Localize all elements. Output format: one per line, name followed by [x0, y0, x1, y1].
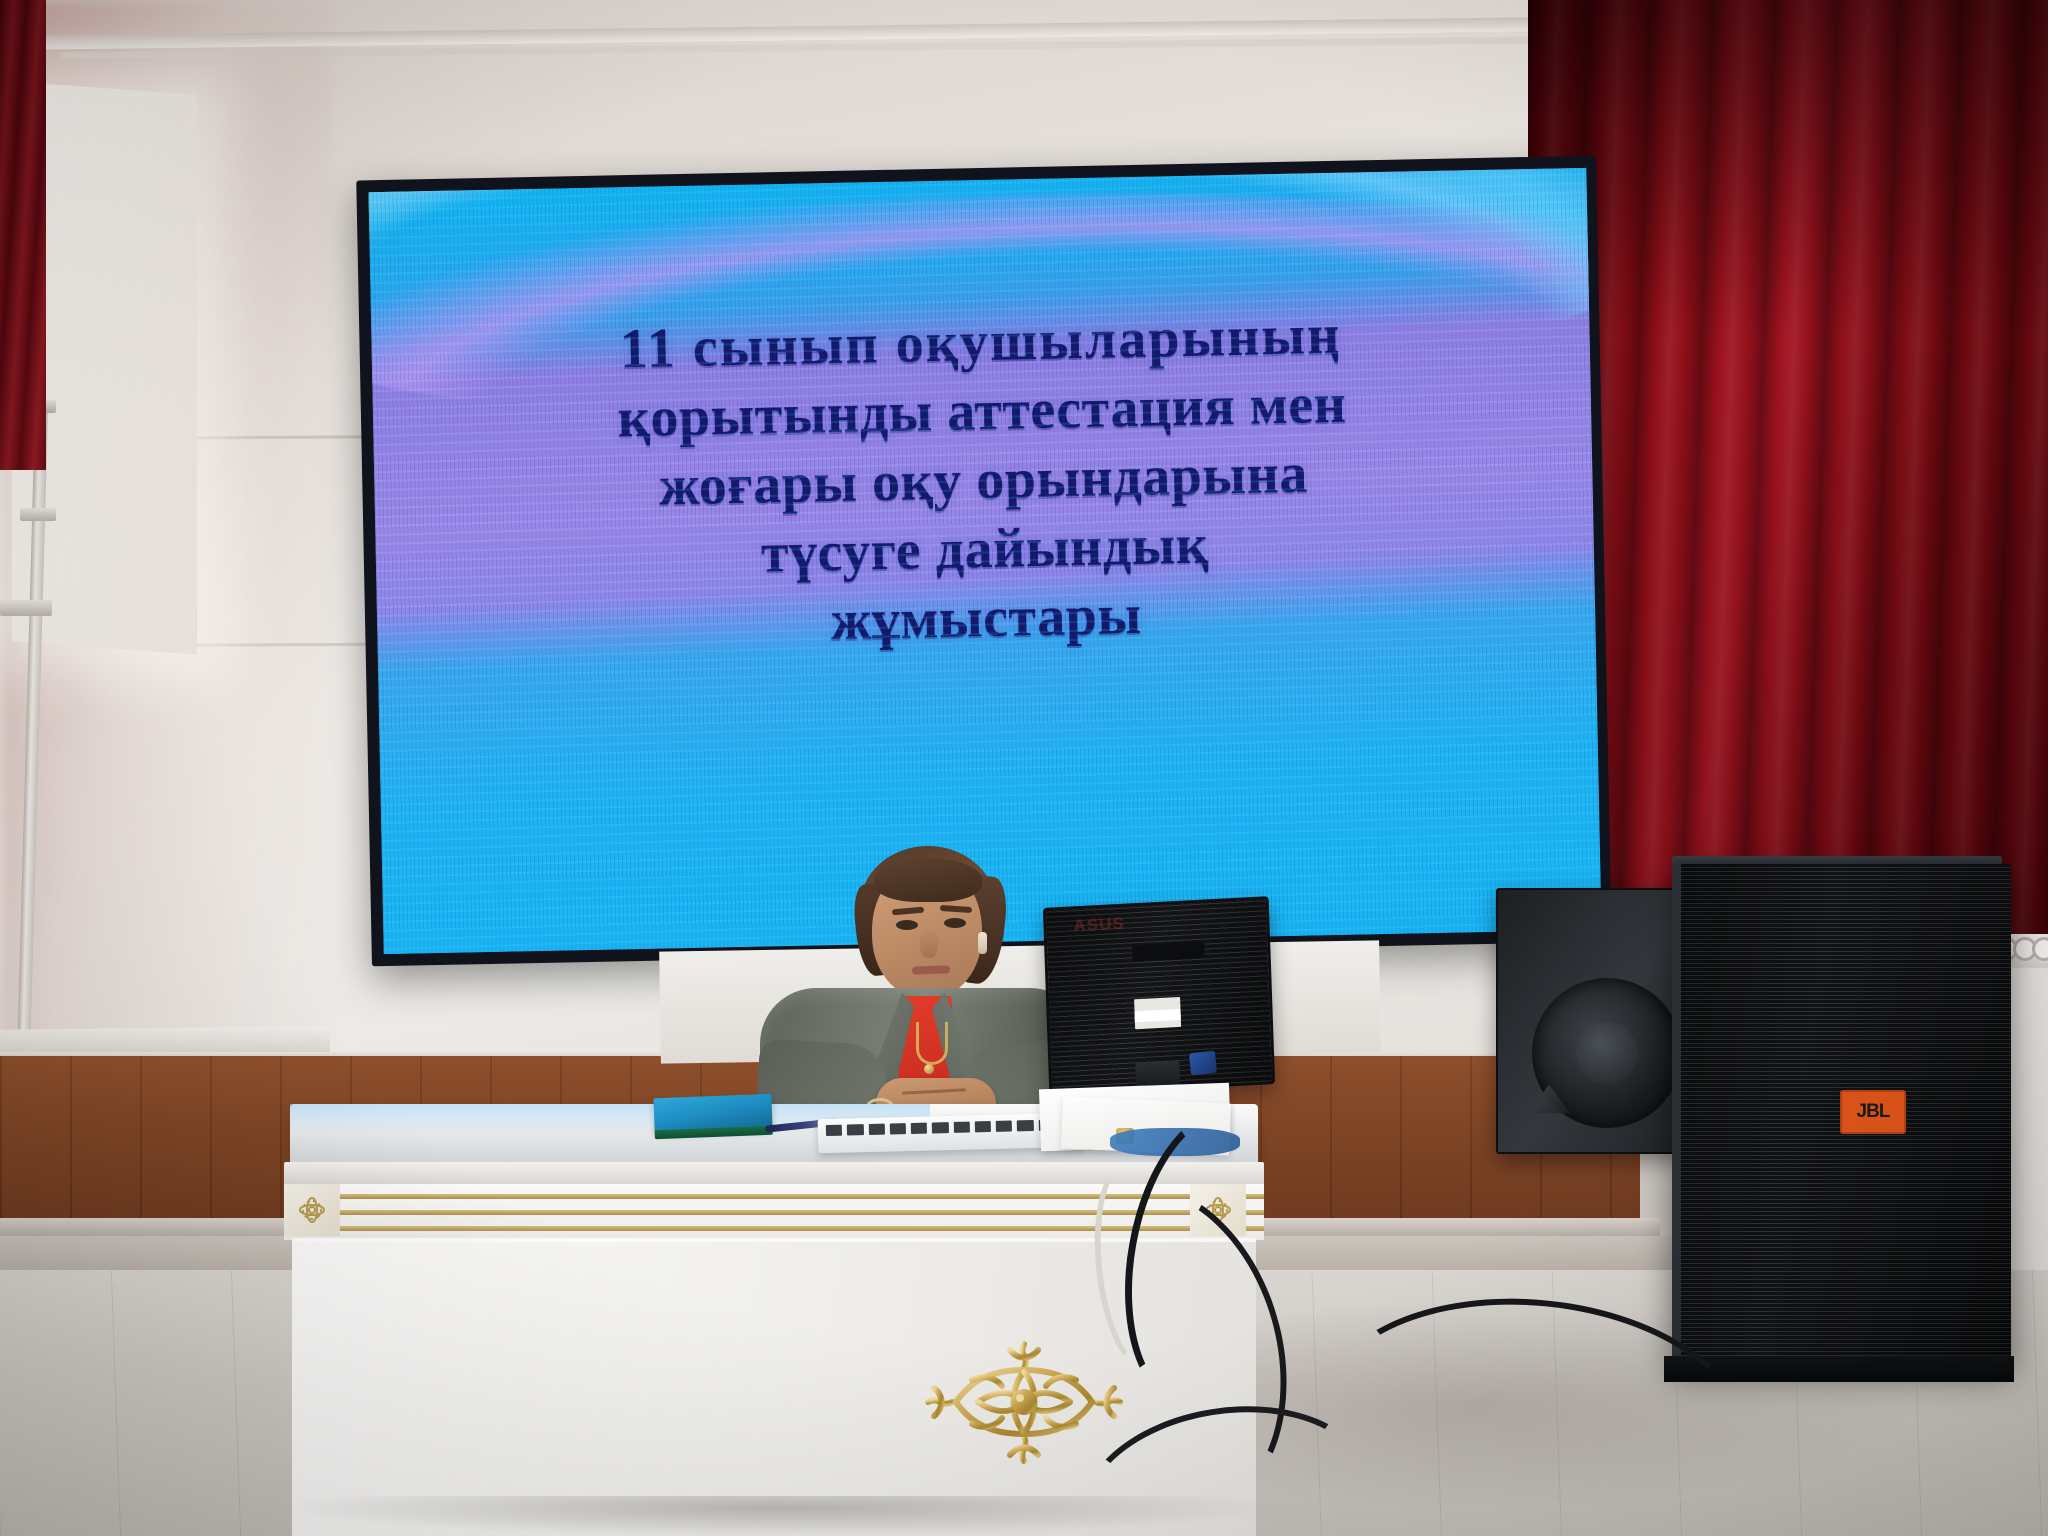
mouth	[912, 965, 950, 974]
pipe-bracket	[0, 600, 52, 616]
eye-left	[896, 920, 918, 930]
hair-fringe	[874, 858, 982, 902]
presenter-figure	[756, 846, 1092, 1116]
necklace	[916, 1022, 948, 1065]
jbl-logo: JBL	[1840, 1090, 1906, 1134]
left-curtain	[0, 0, 46, 470]
rosette-icon	[292, 1190, 332, 1230]
pipe-bracket	[20, 508, 56, 521]
led-video-wall[interactable]: 11 сынып оқушыларының қорытынды аттестац…	[356, 156, 1612, 967]
photo-scene: 11 сынып оқушыларының қорытынды аттестац…	[0, 0, 2048, 1536]
necklace-pendant	[924, 1064, 934, 1074]
eye-right	[944, 918, 966, 928]
led-screen-surface: 11 сынып оқушыларының қорытынды аттестац…	[368, 168, 1601, 954]
monitor-brand-logo: ASUS	[1073, 914, 1125, 937]
nose	[920, 928, 938, 958]
earring	[978, 932, 987, 954]
slide-title-text: 11 сынып оқушыларының қорытынды аттестац…	[371, 296, 1596, 665]
frieze-ring	[2032, 937, 2048, 961]
teal-notebook[interactable]	[653, 1094, 772, 1133]
desk-corner-rosette-left	[284, 1184, 340, 1236]
monitor-cable-connector	[1189, 1051, 1217, 1076]
